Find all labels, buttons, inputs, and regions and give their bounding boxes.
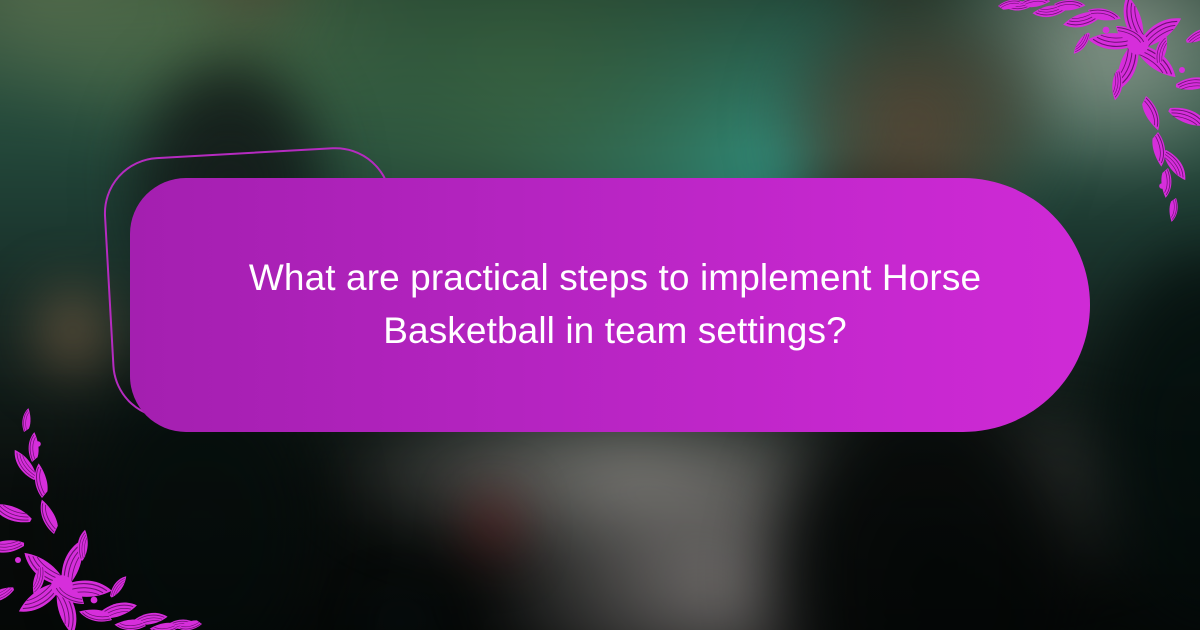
page-title: What are practical steps to implement Ho… bbox=[226, 252, 1004, 357]
social-card-canvas: What are practical steps to implement Ho… bbox=[0, 0, 1200, 630]
title-card: What are practical steps to implement Ho… bbox=[130, 178, 1090, 432]
